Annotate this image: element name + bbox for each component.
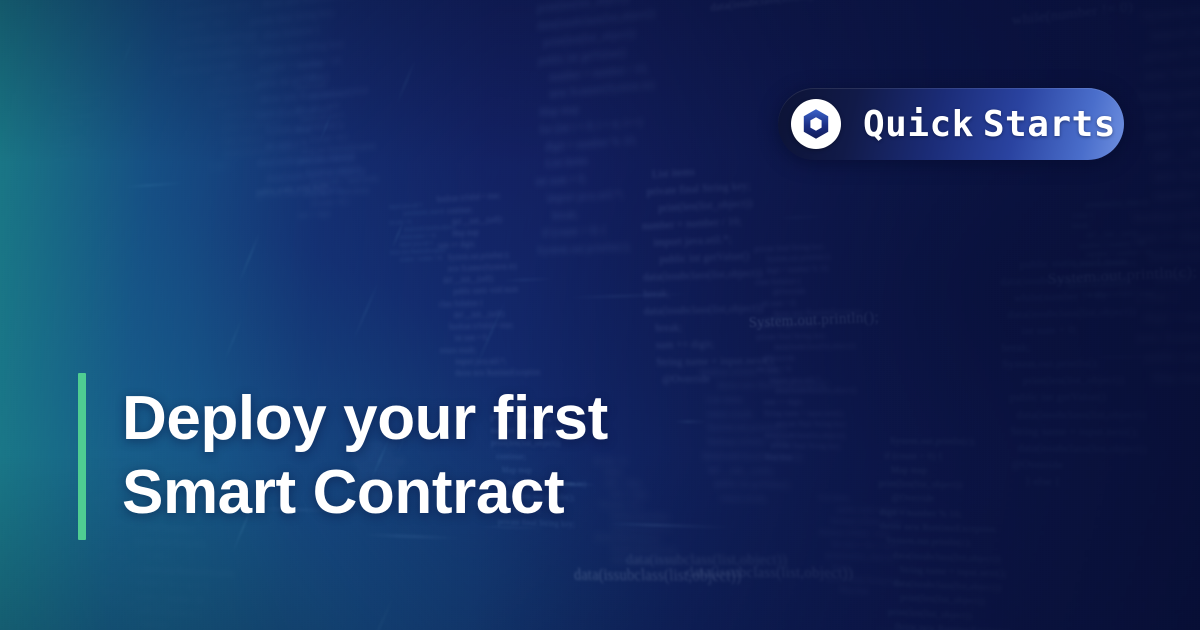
headline-line-2: Smart Contract <box>122 456 762 530</box>
chainlink-hexagon-icon <box>791 99 841 149</box>
quickstarts-banner: sum += digit;String name = input.next();… <box>0 0 1200 630</box>
badge-label-quick: Quick <box>863 104 974 145</box>
quickstarts-badge[interactable]: Quick Starts <box>778 88 1124 160</box>
accent-bar <box>78 373 86 540</box>
headline-line-1: Deploy your first <box>122 382 762 456</box>
badge-label: Quick Starts <box>863 104 1116 145</box>
page-title: Deploy your first Smart Contract <box>122 382 762 530</box>
badge-label-starts: Starts <box>983 104 1116 145</box>
